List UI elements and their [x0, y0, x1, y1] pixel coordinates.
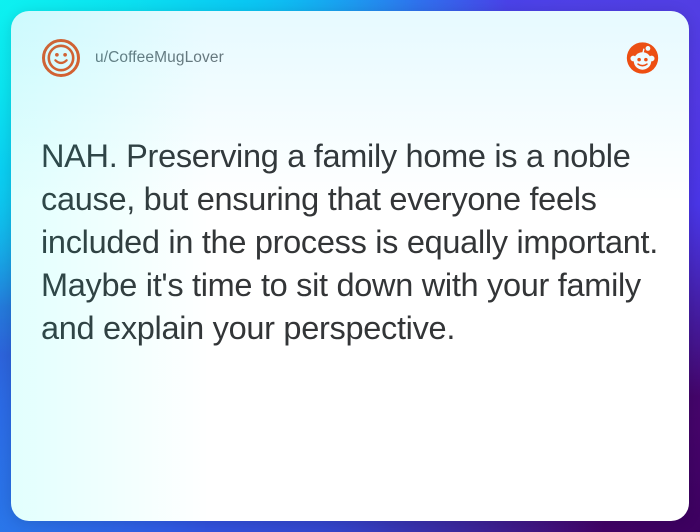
- quote-card: u/CoffeeMugLover NAH. Preserving a famil…: [11, 11, 689, 521]
- reddit-snoo-icon[interactable]: [626, 42, 659, 75]
- smiley-face-avatar-icon[interactable]: [41, 38, 81, 78]
- card-header: u/CoffeeMugLover: [41, 35, 659, 81]
- gradient-background: u/CoffeeMugLover NAH. Preserving a famil…: [0, 0, 700, 532]
- quote-text: NAH. Preserving a family home is a noble…: [41, 135, 659, 349]
- username-label: u/CoffeeMugLover: [95, 49, 224, 67]
